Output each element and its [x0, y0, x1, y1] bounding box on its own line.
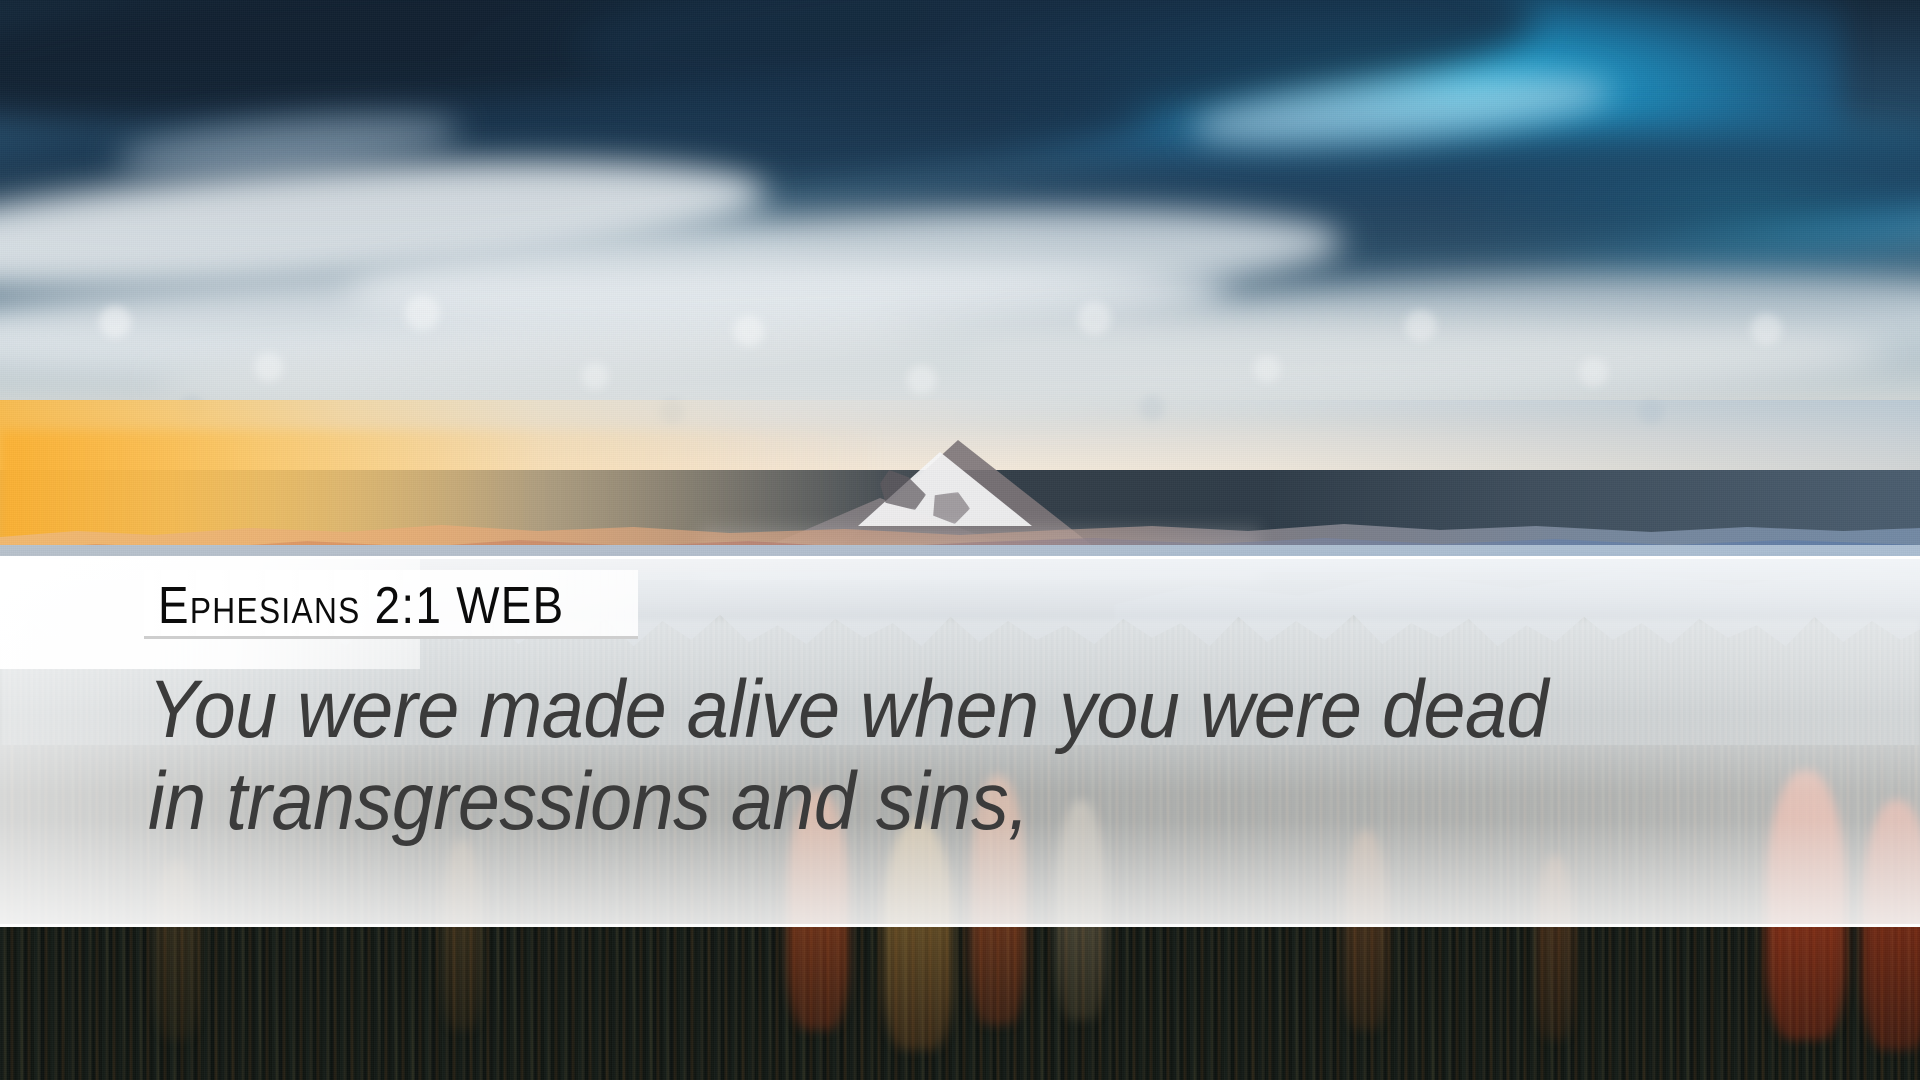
verse-text-line-1: You were made alive when you were dead — [148, 664, 1712, 756]
verse-reference-plate: Ephesians 2:1 WEB — [144, 570, 638, 639]
verse-content: Ephesians 2:1 WEB You were made alive wh… — [0, 556, 1920, 927]
verse-text-line-2: in transgressions and sins, — [148, 756, 1712, 848]
verse-reference-container: Ephesians 2:1 WEB — [144, 570, 638, 639]
verse-reference-text: Ephesians 2:1 WEB — [158, 580, 564, 632]
verse-wallpaper: Ephesians 2:1 WEB You were made alive wh… — [0, 0, 1920, 1080]
verse-text-container: You were made alive when you were dead i… — [148, 664, 1848, 848]
